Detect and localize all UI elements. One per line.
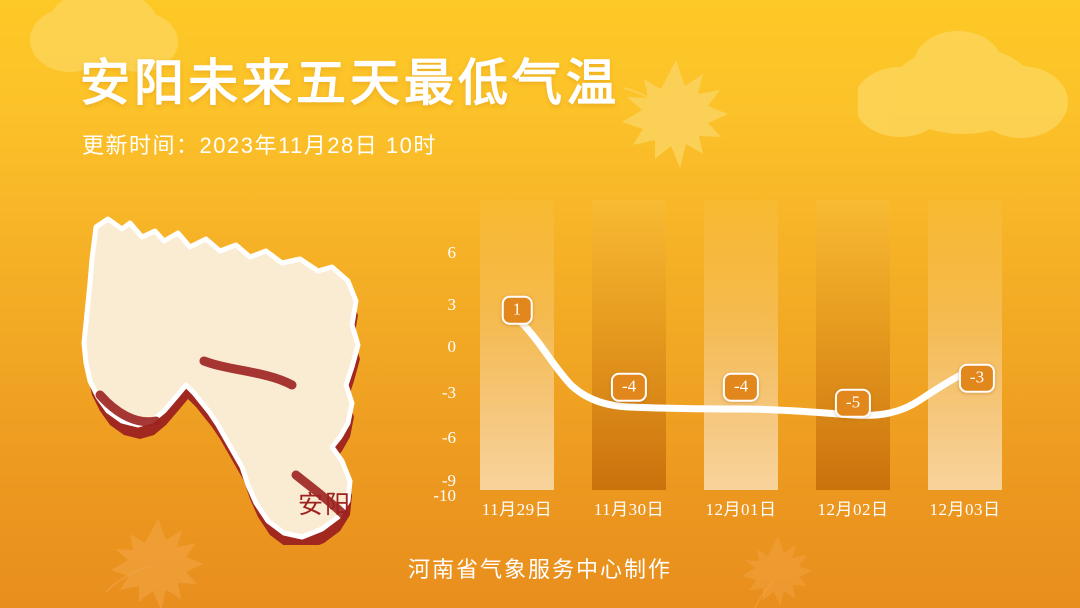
x-tick-label: 12月02日: [798, 495, 908, 520]
y-tick: -6: [412, 428, 456, 448]
value-badge: 1: [502, 296, 533, 325]
x-tick-label: 12月03日: [910, 495, 1020, 520]
plot-area: 1 -4 -4 -5 -3: [462, 200, 1032, 490]
y-tick: -3: [412, 383, 456, 403]
update-time-label: 更新时间：2023年11月28日 10时: [82, 128, 437, 160]
temperature-chart: 6 3 0 -3 -6 -9 -10 1 -4 -4 -5 -3: [412, 190, 1032, 500]
value-badge: -4: [723, 373, 759, 402]
y-tick: 0: [412, 337, 456, 357]
x-tick-label: 12月01日: [686, 495, 796, 520]
x-axis: 11月29日 11月30日 12月01日 12月02日 12月03日: [462, 495, 1032, 525]
infographic-canvas: 安阳未来五天最低气温 更新时间：2023年11月28日 10时 安阳 6 3 0…: [0, 0, 1080, 608]
y-tick: -10: [412, 486, 456, 506]
page-title: 安阳未来五天最低气温: [80, 56, 620, 111]
temperature-line: [462, 200, 1032, 490]
value-badge: -5: [835, 389, 871, 418]
footer-credit: 河南省气象服务中心制作: [0, 552, 1080, 584]
value-badge: -4: [611, 373, 647, 402]
y-tick: 3: [412, 295, 456, 315]
x-tick-label: 11月29日: [462, 495, 572, 520]
x-tick-label: 11月30日: [574, 495, 684, 520]
anyang-map: 安阳: [60, 185, 420, 545]
value-badge: -3: [959, 364, 995, 393]
cloud-icon: [858, 10, 1068, 142]
map-region-label: 安阳: [298, 485, 352, 521]
y-axis: 6 3 0 -3 -6 -9 -10: [412, 200, 456, 490]
maple-leaf-icon: [600, 48, 750, 180]
y-tick: 6: [412, 243, 456, 263]
